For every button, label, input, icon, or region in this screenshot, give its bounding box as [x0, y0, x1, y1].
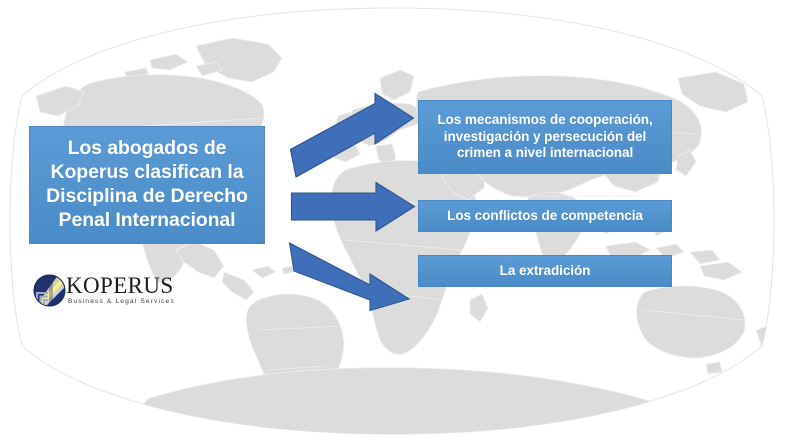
logo-wordmark: KOPERUS Business & Legal Services: [66, 275, 175, 305]
slide-canvas: Los abogados de Koperus clasifican la Di…: [0, 0, 785, 442]
arrow-down-right-shape: [288, 224, 416, 312]
item-box-extradition[interactable]: La extradición: [418, 255, 672, 287]
main-statement-text: Los abogados de Koperus clasifican la Di…: [36, 137, 258, 232]
koperus-emblem-icon: [33, 274, 66, 307]
arrow-up-right-shape: [289, 92, 415, 178]
item-box-mechanisms-text: Los mecanismos de cooperación, investiga…: [427, 112, 663, 162]
item-box-mechanisms[interactable]: Los mecanismos de cooperación, investiga…: [418, 100, 672, 174]
main-statement-box[interactable]: Los abogados de Koperus clasifican la Di…: [29, 126, 265, 244]
logo-name: KOPERUS: [66, 275, 175, 297]
item-box-conflicts-text: Los conflictos de competencia: [427, 208, 663, 225]
koperus-logo: KOPERUS Business & Legal Services: [33, 271, 183, 309]
item-box-extradition-text: La extradición: [427, 263, 663, 280]
logo-tagline: Business & Legal Services: [66, 298, 175, 305]
item-box-conflicts[interactable]: Los conflictos de competencia: [418, 200, 672, 232]
